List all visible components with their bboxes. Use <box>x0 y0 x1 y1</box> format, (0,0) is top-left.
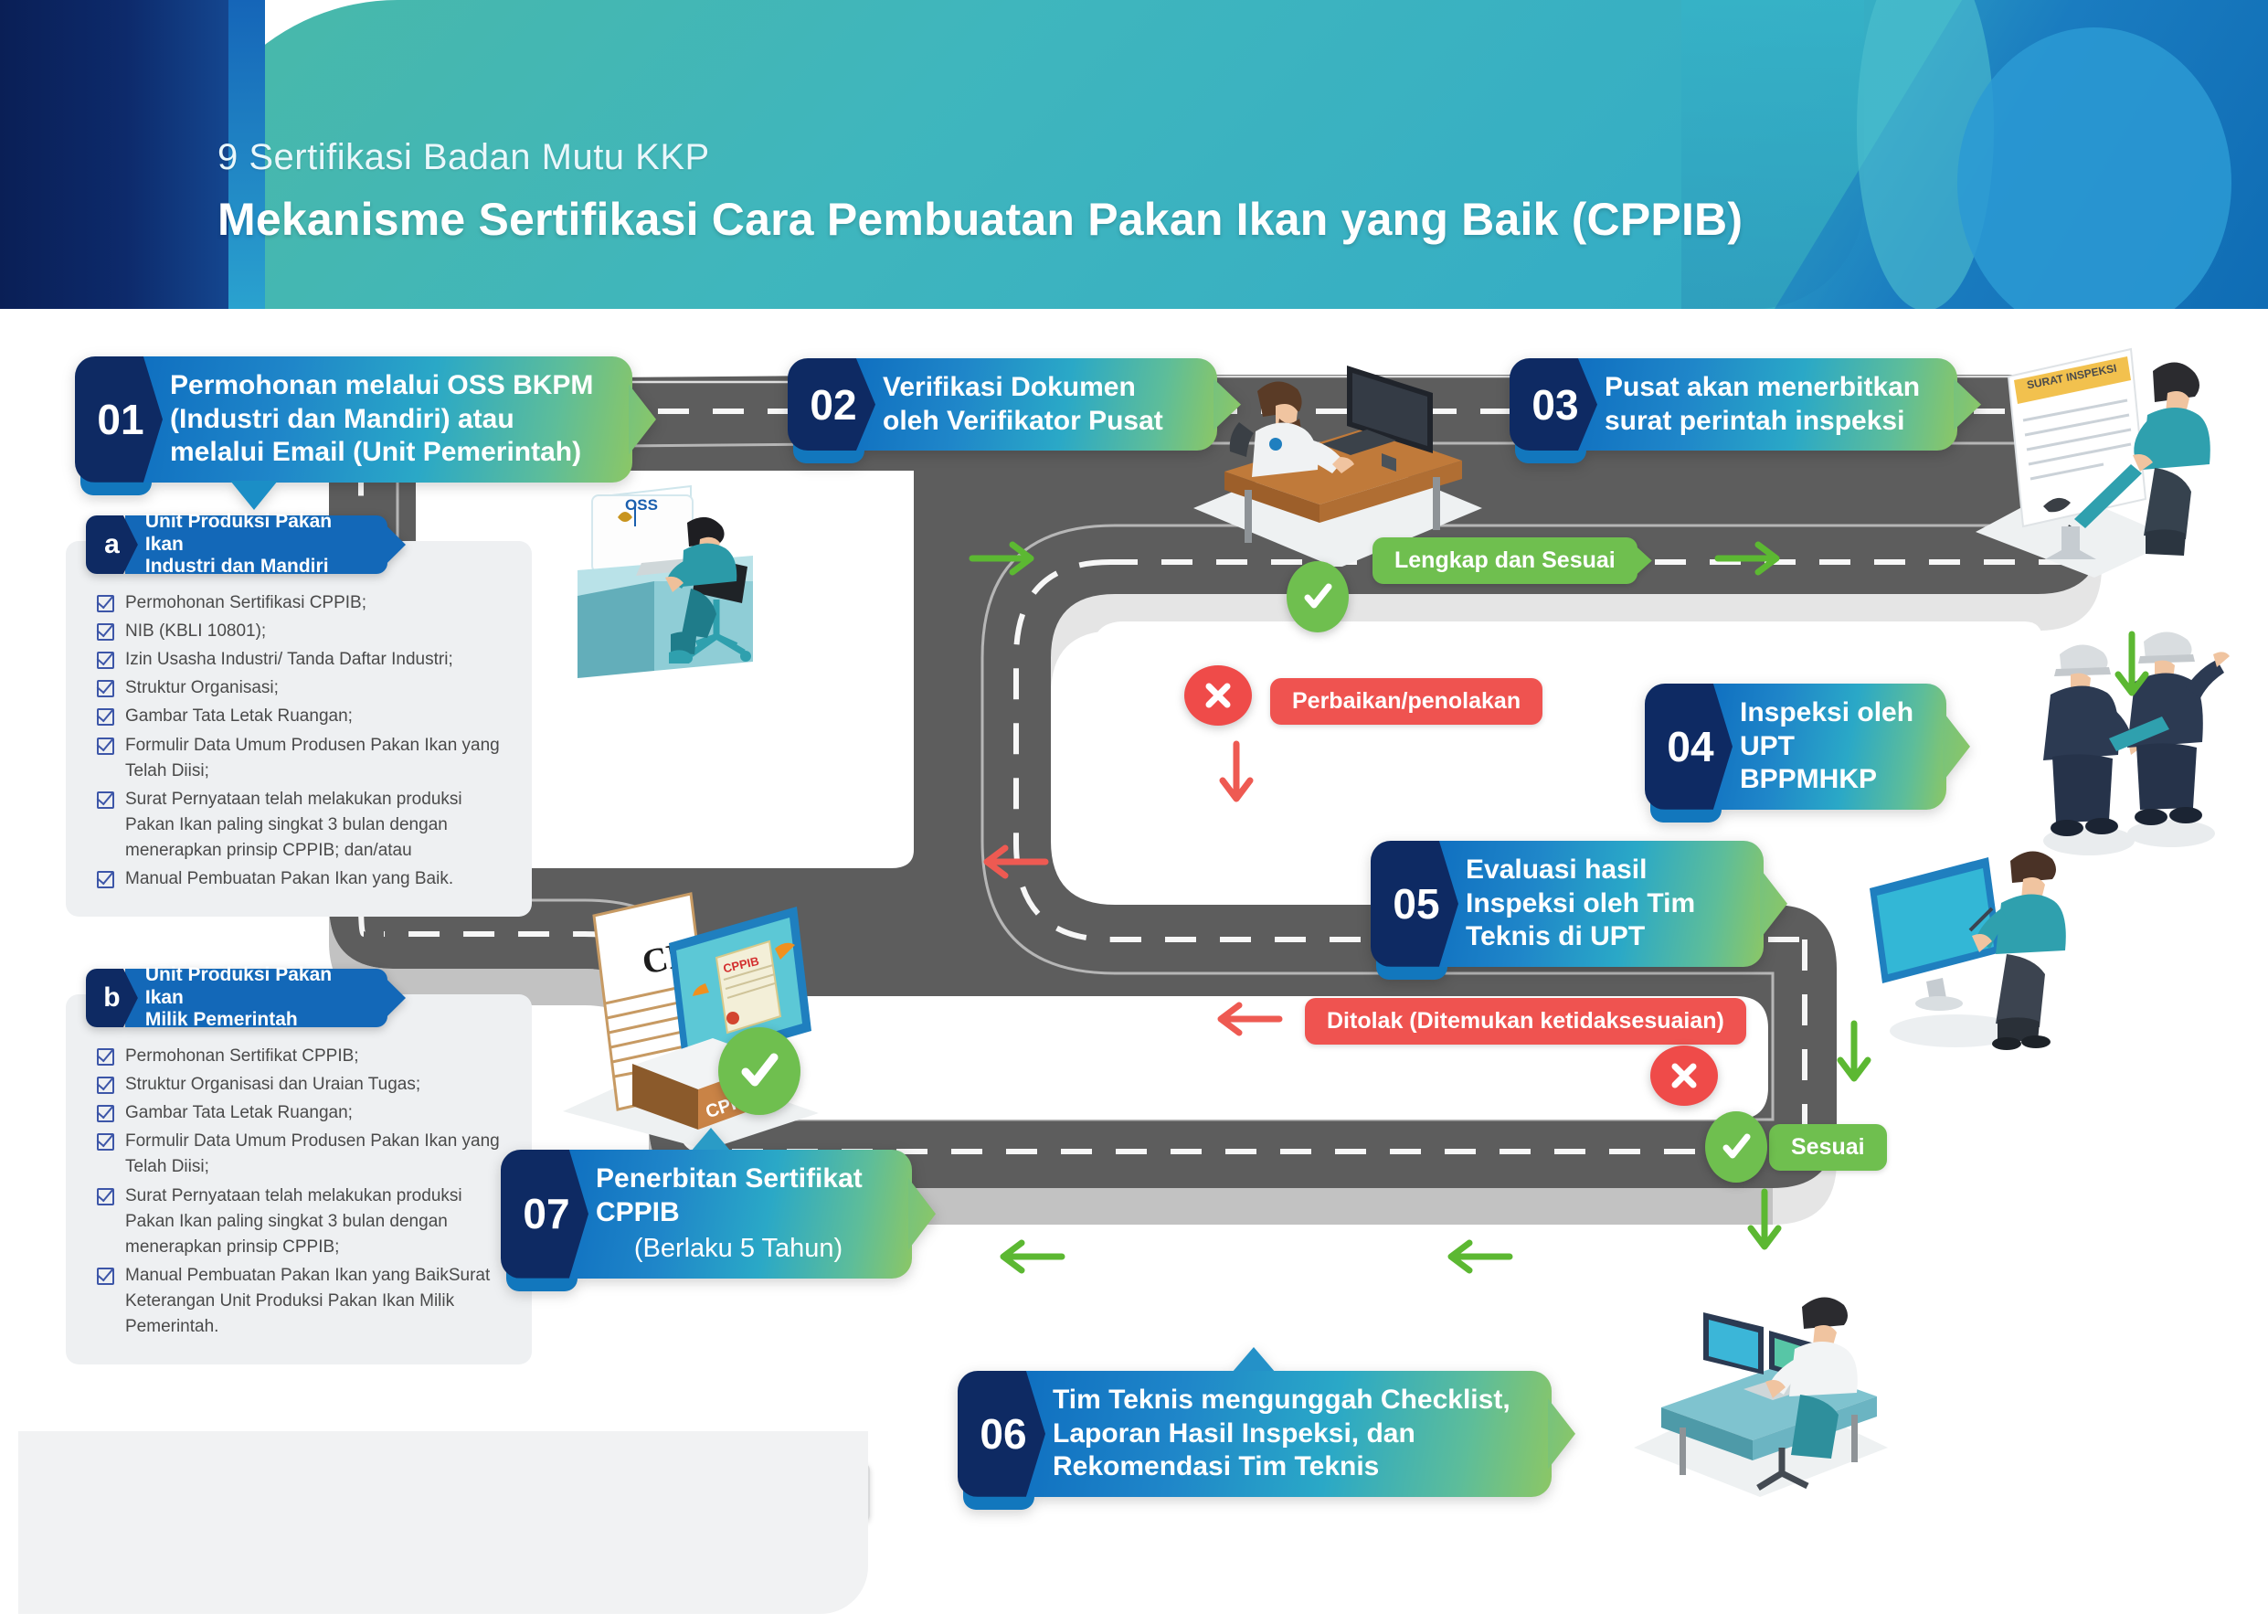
requirements-header-b: b Unit Produksi Pakan Ikan Milik Pemerin… <box>86 969 387 1027</box>
step-pointer-down-icon <box>230 481 278 510</box>
requirements-title-b-line2: Milik Pemerintah <box>145 1009 356 1031</box>
banner-text-block: 9 Sertifikasi Badan Mutu KKP Mekanisme S… <box>217 137 1743 246</box>
list-item: Struktur Organisasi; <box>97 675 504 701</box>
illustration-evaluator-screen <box>1855 828 2093 1070</box>
checkbox-checked-icon <box>97 1188 114 1205</box>
flow-label-ditolak: Ditolak (Ditemukan ketidaksesuaian) <box>1305 998 1746 1045</box>
requirements-list-b: Permohonan Sertifikat CPPIB; Struktur Or… <box>66 1038 532 1340</box>
list-item-text: Permohonan Sertifikat CPPIB; <box>125 1044 359 1069</box>
requirements-title-a-line1: Unit Produksi Pakan Ikan <box>145 511 356 556</box>
list-item: Formulir Data Umum Produsen Pakan Ikan y… <box>97 733 504 784</box>
step-label-07-main: Penerbitan Sertifikat CPPIB <box>596 1162 881 1229</box>
step-card-06[interactable]: 06 Tim Teknis mengunggah Checklist, Lapo… <box>958 1371 1552 1497</box>
step-label-06: Tim Teknis mengunggah Checklist, Laporan… <box>1022 1371 1552 1497</box>
requirements-title-b: Unit Produksi Pakan Ikan Milik Pemerinta… <box>125 969 387 1027</box>
checkbox-checked-icon <box>97 1105 114 1122</box>
arrow-down-green-1 <box>2111 631 2153 709</box>
illustration-cppib-certificate: CPPIB CPPIB CPPIB <box>545 883 874 1162</box>
arrow-right-green-2 <box>1714 537 1793 579</box>
step-label-01: Permohonan melalui OSS BKPM (Industri da… <box>139 356 632 483</box>
list-item-text: Surat Pernyataan telah melakukan produks… <box>125 787 504 864</box>
step-label-07: Penerbitan Sertifikat CPPIB (Berlaku 5 T… <box>565 1150 912 1279</box>
checkbox-checked-icon <box>97 1268 114 1285</box>
illustration-upload-desk <box>1625 1279 1899 1503</box>
checkbox-checked-icon <box>97 791 114 809</box>
checkbox-checked-icon <box>97 1133 114 1151</box>
arrow-left-green-1 <box>1435 1236 1513 1278</box>
arrow-down-green-3 <box>1743 1188 1786 1267</box>
arrow-left-red-2 <box>1204 998 1283 1040</box>
checkbox-checked-icon <box>97 1077 114 1094</box>
status-badge-check <box>1705 1111 1767 1183</box>
status-badge-check <box>1287 561 1349 632</box>
list-item: Permohonan Sertifikat CPPIB; <box>97 1044 504 1069</box>
flow-label-lengkap-dan-sesuai: Lengkap dan Sesuai <box>1372 537 1637 584</box>
list-item: Gambar Tata Letak Ruangan; <box>97 704 504 729</box>
step-pointer-up-icon <box>691 1128 731 1152</box>
oss-screen-label: OSS <box>625 496 658 514</box>
list-item-text: Struktur Organisasi dan Uraian Tugas; <box>125 1072 420 1098</box>
step-card-01[interactable]: 01 Permohonan melalui OSS BKPM (Industri… <box>75 356 632 483</box>
checkbox-checked-icon <box>97 871 114 888</box>
list-item-text: Struktur Organisasi; <box>125 675 279 701</box>
checkbox-checked-icon <box>97 738 114 755</box>
list-item: Surat Pernyataan telah melakukan produks… <box>97 787 504 864</box>
list-item-text: Permohonan Sertifikasi CPPIB; <box>125 590 366 616</box>
step-label-04: Inspeksi oleh UPT BPPMHKP <box>1709 684 1946 810</box>
list-item: Surat Pernyataan telah melakukan produks… <box>97 1184 504 1260</box>
list-item-text: Izin Usasha Industri/ Tanda Daftar Indus… <box>125 647 453 673</box>
list-item-text: NIB (KBLI 10801); <box>125 619 266 644</box>
list-item: Permohonan Sertifikasi CPPIB; <box>97 590 504 616</box>
requirements-title-a: Unit Produksi Pakan Ikan Industri dan Ma… <box>125 515 387 574</box>
requirements-title-b-line1: Unit Produksi Pakan Ikan <box>145 964 356 1009</box>
step-card-07[interactable]: 07 Penerbitan Sertifikat CPPIB (Berlaku … <box>501 1150 912 1279</box>
step-label-07-sub: (Berlaku 5 Tahun) <box>634 1233 843 1265</box>
status-badge-check-certificate <box>718 1027 800 1115</box>
banner-subtitle: 9 Sertifikasi Badan Mutu KKP <box>217 137 1743 178</box>
flow-label-sesuai: Sesuai <box>1769 1124 1887 1171</box>
arrow-right-green-1 <box>969 537 1047 579</box>
arrow-down-red-1 <box>1215 740 1257 819</box>
step-card-04[interactable]: 04 Inspeksi oleh UPT BPPMHKP <box>1645 684 1946 810</box>
list-item: Formulir Data Umum Produsen Pakan Ikan y… <box>97 1129 504 1180</box>
step-card-03[interactable]: 03 Pusat akan menerbitkan surat perintah… <box>1510 358 1957 451</box>
checkbox-checked-icon <box>97 708 114 726</box>
list-item: Gambar Tata Letak Ruangan; <box>97 1100 504 1126</box>
list-item-text: Gambar Tata Letak Ruangan; <box>125 704 353 729</box>
list-item: Manual Pembuatan Pakan Ikan yang Baik. <box>97 866 504 892</box>
step-label-02: Verifikasi Dokumen oleh Verifikator Pusa… <box>852 358 1217 451</box>
list-item: NIB (KBLI 10801); <box>97 619 504 644</box>
checkbox-checked-icon <box>97 680 114 697</box>
checkbox-checked-icon <box>97 1048 114 1066</box>
arrow-left-red-1 <box>970 841 1049 883</box>
illustration-inspection-letter: SURAT INSPEKSI <box>1966 344 2241 586</box>
step-label-05: Evaluasi hasil Inspeksi oleh Tim Teknis … <box>1435 841 1764 967</box>
illustration-verifier-desk <box>1188 338 1489 571</box>
requirements-list-a: Permohonan Sertifikasi CPPIB; NIB (KBLI … <box>66 585 532 892</box>
list-item-text: Gambar Tata Letak Ruangan; <box>125 1100 353 1126</box>
checkbox-checked-icon <box>97 652 114 669</box>
list-item: Manual Pembuatan Pakan Ikan yang BaikSur… <box>97 1263 504 1340</box>
footer-panel <box>18 1431 868 1614</box>
page-title: Mekanisme Sertifikasi Cara Pembuatan Pak… <box>217 193 1743 246</box>
banner-navy-left <box>0 0 228 309</box>
status-badge-cross <box>1184 665 1252 726</box>
checkbox-checked-icon <box>97 595 114 612</box>
step-pointer-up-icon <box>1232 1347 1276 1373</box>
header-banner: 9 Sertifikasi Badan Mutu KKP Mekanisme S… <box>0 0 2268 309</box>
arrow-down-green-2 <box>1833 1020 1875 1099</box>
requirements-title-a-line2: Industri dan Mandiri <box>145 556 356 578</box>
list-item-text: Manual Pembuatan Pakan Ikan yang BaikSur… <box>125 1263 504 1340</box>
list-item: Struktur Organisasi dan Uraian Tugas; <box>97 1072 504 1098</box>
illustration-oss-desk: OSS <box>554 483 919 761</box>
step-card-05[interactable]: 05 Evaluasi hasil Inspeksi oleh Tim Tekn… <box>1371 841 1764 967</box>
requirements-panel-b: b Unit Produksi Pakan Ikan Milik Pemerin… <box>66 994 532 1364</box>
step-card-02[interactable]: 02 Verifikasi Dokumen oleh Verifikator P… <box>788 358 1217 451</box>
list-item-text: Formulir Data Umum Produsen Pakan Ikan y… <box>125 1129 504 1180</box>
flow-label-perbaikan-penolakan: Perbaikan/penolakan <box>1270 678 1542 725</box>
list-item: Izin Usasha Industri/ Tanda Daftar Indus… <box>97 647 504 673</box>
checkbox-checked-icon <box>97 623 114 641</box>
arrow-left-green-2 <box>987 1236 1065 1278</box>
status-badge-cross <box>1650 1046 1718 1106</box>
list-item-text: Formulir Data Umum Produsen Pakan Ikan y… <box>125 733 504 784</box>
list-item-text: Surat Pernyataan telah melakukan produks… <box>125 1184 504 1260</box>
step-label-03: Pusat akan menerbitkan surat perintah in… <box>1574 358 1957 451</box>
requirements-panel-a: a Unit Produksi Pakan Ikan Industri dan … <box>66 541 532 917</box>
requirements-header-a: a Unit Produksi Pakan Ikan Industri dan … <box>86 515 387 574</box>
list-item-text: Manual Pembuatan Pakan Ikan yang Baik. <box>125 866 453 892</box>
